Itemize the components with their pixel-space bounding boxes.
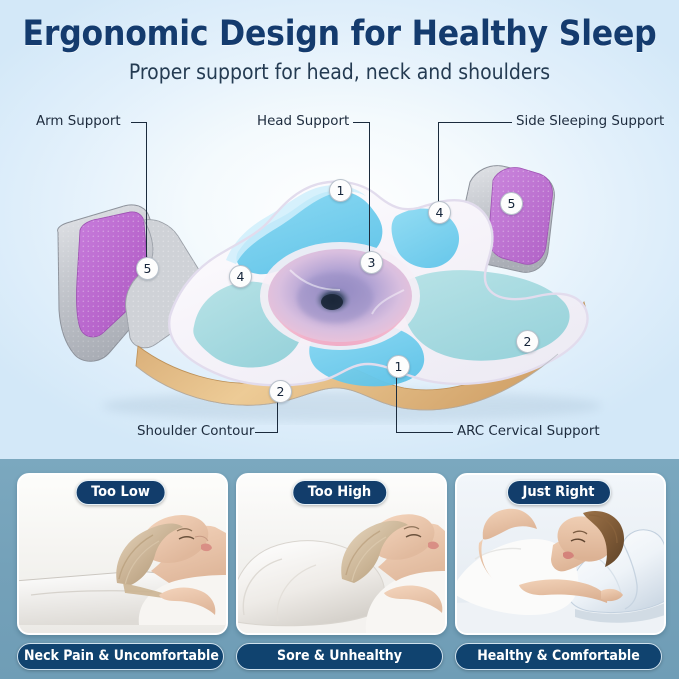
comparison-card-just-right: Just Right Healthy & Comfortable — [455, 473, 662, 668]
callout-label-shoulder-contour: Shoulder Contour — [137, 424, 254, 439]
caption-just-right: Healthy & Comfortable — [455, 643, 662, 670]
leader-side-sleeping-h — [438, 122, 512, 123]
leader-arm-support-v — [146, 122, 147, 257]
comparison-section: Too Low Neck Pain & Uncomfortable — [0, 459, 679, 679]
infographic-root: Ergonomic Design for Healthy Sleep Prope… — [0, 0, 679, 679]
marker-shoulder-contour-right: 2 — [516, 330, 539, 353]
badge-too-high: Too High — [292, 480, 387, 505]
hero-section: Ergonomic Design for Healthy Sleep Prope… — [0, 0, 679, 459]
leader-shoulder-contour-v — [277, 398, 278, 433]
marker-arc-cervical-lower: 1 — [387, 355, 410, 378]
callout-label-arm-support: Arm Support — [36, 114, 121, 129]
caption-too-low: Neck Pain & Uncomfortable — [17, 643, 224, 670]
page-title: Ergonomic Design for Healthy Sleep — [0, 14, 679, 54]
leader-shoulder-contour-h — [255, 432, 278, 433]
marker-arc-cervical-upper: 1 — [329, 179, 352, 202]
badge-just-right: Just Right — [506, 480, 610, 505]
leader-arc-cervical-h — [396, 432, 453, 433]
caption-too-high: Sore & Unhealthy — [236, 643, 443, 670]
callout-label-head-support: Head Support — [257, 114, 349, 129]
marker-side-sleeping-right: 4 — [428, 201, 451, 224]
badge-too-low: Too Low — [75, 480, 166, 505]
comparison-card-too-high: Too High Sore & Unhealthy — [236, 473, 443, 668]
leader-head-support-h — [353, 122, 370, 123]
leader-arc-cervical-v — [396, 375, 397, 433]
marker-side-sleeping-left: 4 — [229, 265, 252, 288]
callout-label-arc-cervical-support: ARC Cervical Support — [457, 424, 600, 439]
leader-arm-support-h — [131, 122, 147, 123]
leader-side-sleeping-v — [438, 122, 439, 205]
callout-label-side-sleeping-support: Side Sleeping Support — [516, 114, 664, 129]
marker-head-cradle: 3 — [360, 251, 383, 274]
comparison-card-too-low: Too Low Neck Pain & Uncomfortable — [17, 473, 224, 668]
marker-shoulder-contour-left: 2 — [269, 380, 292, 403]
leader-head-support-v — [369, 122, 370, 259]
marker-arm-wing-left: 5 — [136, 257, 159, 280]
comparison-cards: Too Low Neck Pain & Uncomfortable — [0, 473, 679, 668]
marker-arm-wing-right: 5 — [500, 192, 523, 215]
page-subtitle: Proper support for head, neck and should… — [0, 60, 679, 84]
